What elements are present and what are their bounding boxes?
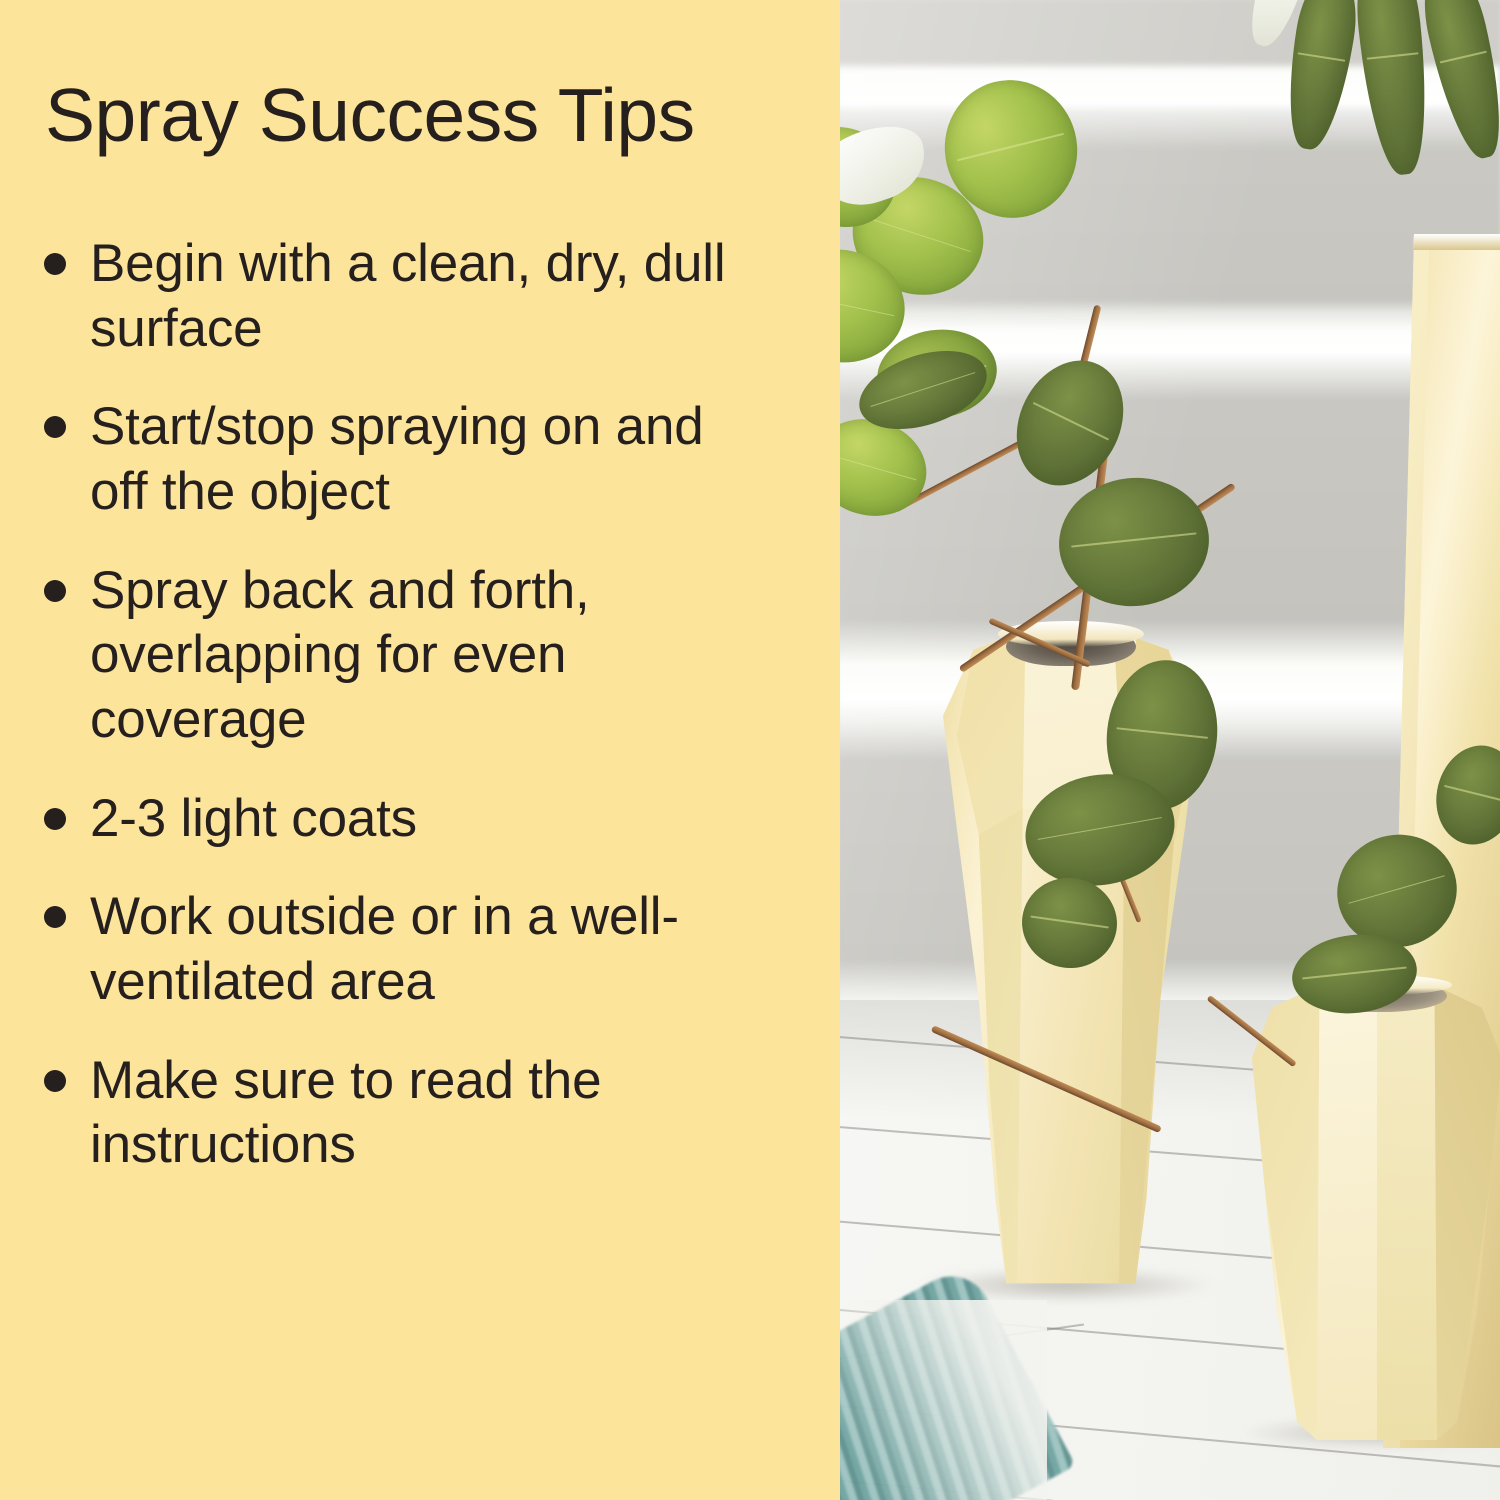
list-item: Spray back and forth, overlapping for ev… xyxy=(44,559,814,753)
product-photo xyxy=(837,0,1500,1500)
small-faceted-vase xyxy=(1252,985,1500,1440)
list-item: Make sure to read the instructions xyxy=(44,1049,814,1178)
list-item: 2-3 light coats xyxy=(44,787,814,852)
bullet-icon xyxy=(44,253,66,275)
medium-faceted-vase xyxy=(932,630,1207,1290)
tips-list: Begin with a clean, dry, dull surface St… xyxy=(44,232,814,1212)
bullet-icon xyxy=(44,1070,66,1092)
panel-divider xyxy=(837,0,840,1500)
vase-rim-highlight xyxy=(998,621,1144,647)
teal-object-fade xyxy=(837,1300,1047,1500)
bullet-icon xyxy=(44,416,66,438)
list-item: Start/stop spraying on and off the objec… xyxy=(44,395,814,524)
tip-text: Spray back and forth, overlapping for ev… xyxy=(90,559,750,753)
tip-text: Work outside or in a well-ventilated are… xyxy=(90,885,750,1014)
bullet-icon xyxy=(44,808,66,830)
tip-text: Begin with a clean, dry, dull surface xyxy=(90,232,750,361)
tip-text: 2-3 light coats xyxy=(90,787,750,852)
page-title: Spray Success Tips xyxy=(45,78,695,153)
tips-graphic: Spray Success Tips Begin with a clean, d… xyxy=(0,0,1500,1500)
bullet-icon xyxy=(44,580,66,602)
tips-text-panel: Spray Success Tips Begin with a clean, d… xyxy=(0,0,837,1500)
list-item: Work outside or in a well-ventilated are… xyxy=(44,885,814,1014)
list-item: Begin with a clean, dry, dull surface xyxy=(44,232,814,361)
tip-text: Make sure to read the instructions xyxy=(90,1049,750,1178)
tip-text: Start/stop spraying on and off the objec… xyxy=(90,395,750,524)
bullet-icon xyxy=(44,906,66,928)
